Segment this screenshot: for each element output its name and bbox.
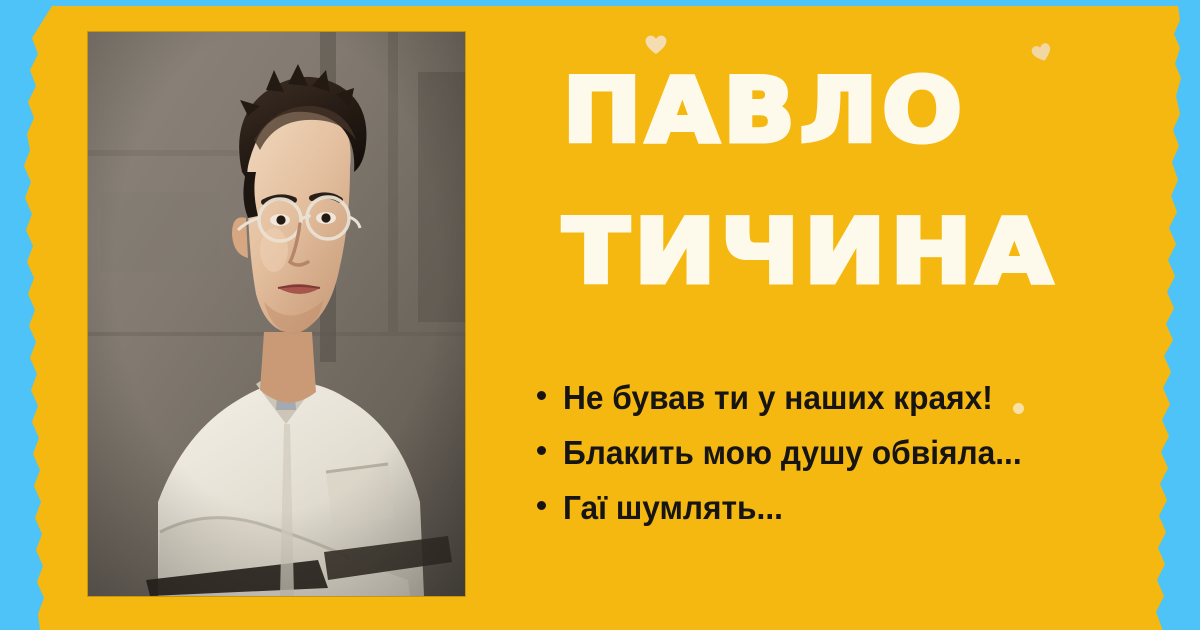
- list-item: Не бував ти у наших краях!: [537, 381, 1187, 414]
- portrait-photo: [88, 32, 465, 596]
- decorative-speck: [1013, 403, 1024, 414]
- title-line-1: ПАВЛО: [563, 70, 1200, 153]
- list-item: Гаї шумлять...: [537, 491, 1187, 524]
- list-item: Блакить мою душу обвіяла...: [537, 436, 1187, 469]
- bullet-dot-icon: [537, 391, 546, 400]
- list-item-label: Блакить мою душу обвіяла...: [563, 436, 1022, 469]
- title-line-2: ТИЧИНА: [563, 211, 1200, 294]
- list-item-label: Гаї шумлять...: [563, 491, 783, 524]
- poster-canvas: ПАВЛО ТИЧИНА Не бував ти у наших краях! …: [0, 0, 1200, 630]
- list-item-label: Не бував ти у наших краях!: [563, 381, 993, 414]
- bullet-dot-icon: [537, 446, 546, 455]
- works-list: Не бував ти у наших краях! Блакить мою д…: [537, 381, 1187, 546]
- poster-title: ПАВЛО ТИЧИНА: [563, 70, 1183, 293]
- bullet-dot-icon: [537, 501, 546, 510]
